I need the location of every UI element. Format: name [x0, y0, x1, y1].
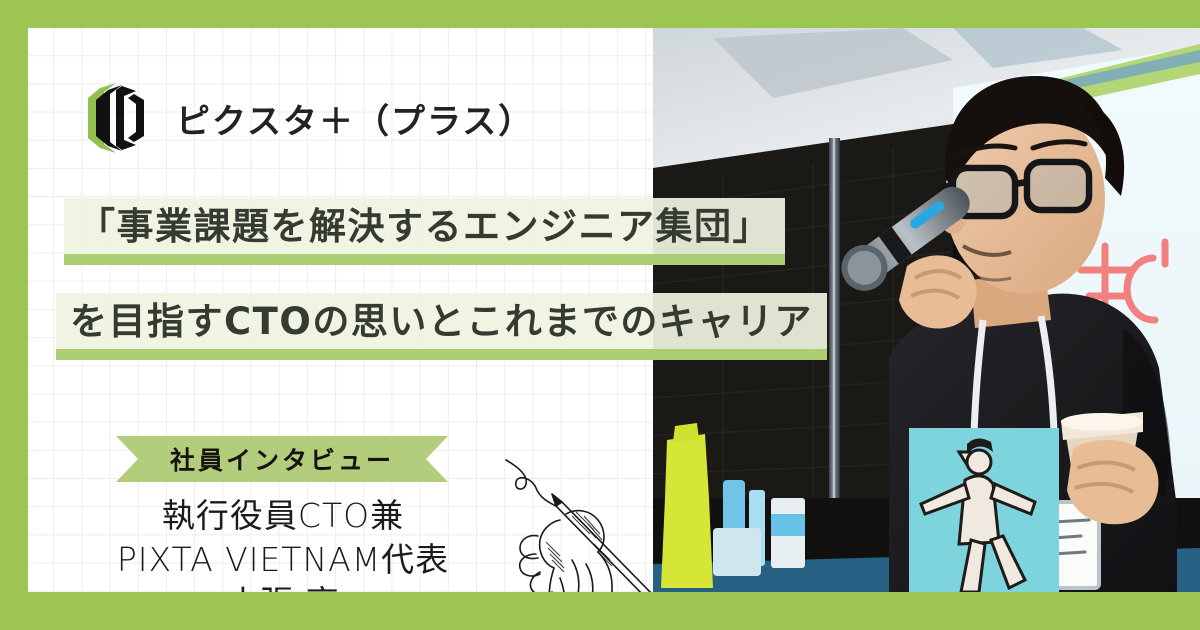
headline-underline-2 — [56, 349, 827, 360]
pixta-hexagon-logo-icon — [78, 80, 154, 156]
brand-name: ピクスタ＋（プラス） — [176, 94, 534, 143]
hand-holding-pen-icon — [494, 448, 684, 592]
interview-badge-label: 社員インタビュー — [116, 436, 448, 482]
content-card: ピクスタ＋（プラス） 「事業課題を解決するエンジニア集団」 を目指すCTOの思い… — [28, 28, 1200, 592]
interview-badge: 社員インタビュー — [116, 436, 448, 482]
headline-line-2-text: を目指すCTOの思いとこれまでのキャリア — [70, 300, 813, 343]
headline-line-2: を目指すCTOの思いとこれまでのキャリア — [56, 293, 827, 349]
brand-logo-row: ピクスタ＋（プラス） — [78, 80, 534, 156]
byline-line-2: PIXTA VIETNAM代表 — [68, 538, 498, 582]
banner-root: ピクスタ＋（プラス） 「事業課題を解決するエンジニア集団」 を目指すCTOの思い… — [0, 0, 1200, 630]
headline-underline-1 — [64, 254, 785, 265]
headline-line-1: 「事業課題を解決するエンジニア集団」 — [64, 198, 785, 254]
byline-line-1: 執行役員CTO兼 — [68, 494, 498, 538]
headline-line-1-text: 「事業課題を解決するエンジニア集団」 — [78, 205, 771, 248]
byline-block: 執行役員CTO兼 PIXTA VIETNAM代表 小張 亮 — [68, 494, 498, 592]
byline-line-3: 小張 亮 — [68, 581, 498, 592]
